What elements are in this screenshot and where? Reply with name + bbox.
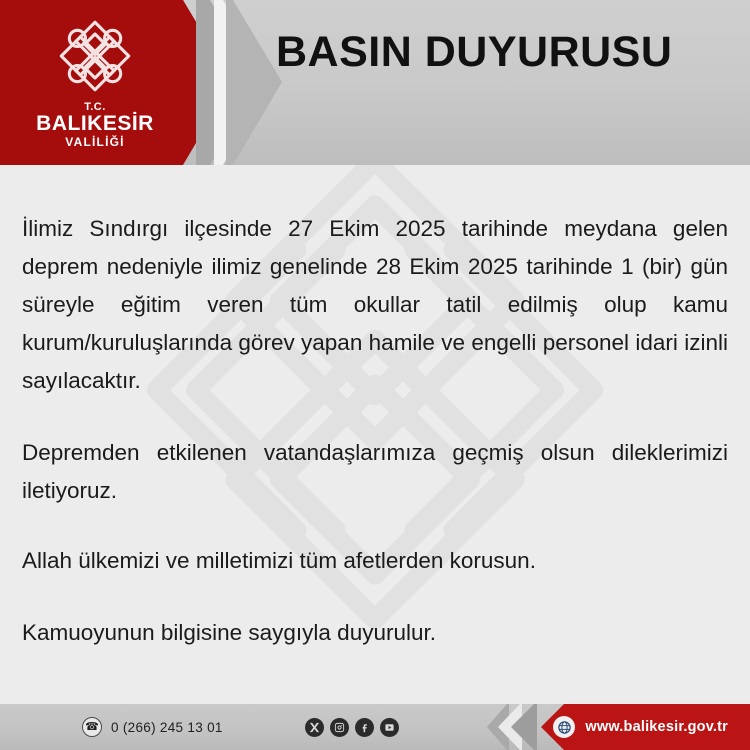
phone-number: 0 (266) 245 13 01	[111, 720, 223, 735]
x-twitter-icon[interactable]	[305, 718, 324, 737]
logo-line-city: BALIKESİR	[36, 113, 154, 135]
paragraph-3: Allah ülkemizi ve milletimizi tüm afetle…	[22, 542, 728, 580]
website-url: www.balikesir.gov.tr	[585, 719, 728, 735]
seljuk-knot-emblem-icon	[51, 12, 139, 100]
press-release-poster: T.C. BALIKESİR VALİLİĞİ BASIN DUYURUSU İ…	[0, 0, 750, 750]
paragraph-2: Depremden etkilenen vatandaşlarımıza geç…	[22, 434, 728, 510]
logo-line-governorship: VALİLİĞİ	[65, 135, 124, 149]
instagram-icon[interactable]	[330, 718, 349, 737]
institution-logo: T.C. BALIKESİR VALİLİĞİ	[0, 0, 190, 165]
website-link[interactable]: www.balikesir.gov.tr	[553, 704, 728, 750]
paragraph-1: İlimiz Sındırgı ilçesinde 27 Ekim 2025 t…	[22, 210, 728, 400]
header-chevron-grey-inner	[226, 0, 286, 165]
telephone-icon: ☎	[82, 717, 102, 737]
facebook-icon[interactable]	[355, 718, 374, 737]
social-links	[305, 704, 399, 750]
page-title: BASIN DUYURUSU	[276, 28, 672, 77]
announcement-body: İlimiz Sındırgı ilçesinde 27 Ekim 2025 t…	[0, 165, 750, 690]
globe-icon	[553, 716, 575, 738]
poster-header: T.C. BALIKESİR VALİLİĞİ BASIN DUYURUSU	[0, 0, 750, 165]
contact-phone[interactable]: ☎ 0 (266) 245 13 01	[82, 704, 223, 750]
poster-footer: ☎ 0 (266) 245 13 01	[0, 704, 750, 750]
youtube-icon[interactable]	[380, 718, 399, 737]
paragraph-4: Kamuoyunun bilgisine saygıyla duyurulur.	[22, 614, 728, 652]
